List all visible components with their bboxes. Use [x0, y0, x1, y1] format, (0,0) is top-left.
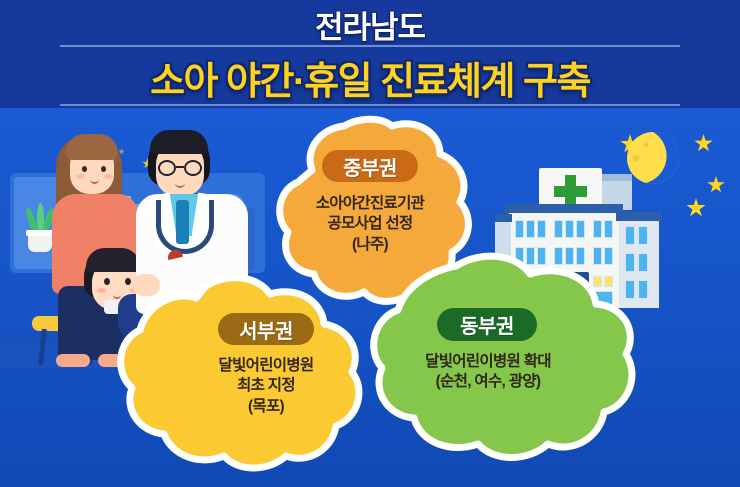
region-text-east: 달빛어린이병원 확대 (순천, 여수, 광양) [382, 352, 594, 393]
hospital-window [515, 220, 524, 238]
hospital-window [604, 220, 613, 238]
poster-header: 전라남도 소아 야간·휴일 진료체계 구축 [0, 0, 740, 108]
hospital-right-wing-cornice [616, 212, 662, 221]
hospital-window [554, 220, 563, 238]
title-line-2: 소아 야간·휴일 진료체계 구축 [0, 50, 740, 105]
region-text-line: 공모사업 선정 [270, 214, 470, 234]
infographic-poster: 전라남도 소아 야간·휴일 진료체계 구축 [0, 0, 740, 487]
title-line-1: 전라남도 [0, 2, 740, 47]
badge-west[interactable]: 서부권 [218, 313, 314, 345]
doctor-glasses-lens [158, 160, 176, 176]
region-text-line: (나주) [270, 235, 470, 255]
region-text-line: (순천, 여수, 광양) [382, 372, 594, 392]
badge-central[interactable]: 중부권 [322, 150, 418, 182]
region-text-line: 달빛어린이병원 확대 [382, 352, 594, 372]
doctor-hair-fringe [150, 130, 208, 154]
scene-plant-pot-rim [26, 230, 54, 236]
mother-cheek [76, 174, 85, 179]
region-text-line: 최초 지정 [166, 376, 366, 396]
region-text-west: 달빛어린이병원 최초 지정 (목포) [166, 356, 366, 417]
mother-hair-front [66, 134, 118, 160]
hospital-window [625, 226, 635, 245]
region-text-line: 달빛어린이병원 [166, 356, 366, 376]
header-divider-top [60, 45, 680, 47]
hospital-window [593, 220, 602, 238]
mother-cheek [104, 174, 113, 179]
badge-east[interactable]: 동부권 [437, 308, 537, 341]
star-icon [694, 134, 713, 153]
hospital-window [638, 226, 648, 245]
mother-eye [82, 166, 87, 172]
doctor-glasses-bridge [176, 166, 184, 168]
mother-shoe [56, 354, 90, 367]
doctor-glasses-lens [184, 160, 202, 176]
hospital-window [526, 220, 535, 238]
poster-body: 중부권 소아야간진료기관 공모사업 선정 (나주) 서부권 달빛어린이병원 최초… [0, 108, 740, 487]
green-cross-icon-bar [554, 186, 587, 197]
hospital-window [576, 220, 585, 238]
region-text-line: (목포) [166, 397, 366, 417]
star-icon [707, 176, 725, 194]
region-text-central: 소아야간진료기관 공모사업 선정 (나주) [270, 194, 470, 255]
mother-eye [101, 166, 106, 172]
hospital-window [565, 220, 574, 238]
hospital-window [537, 220, 546, 238]
region-text-line: 소아야간진료기관 [270, 194, 470, 214]
header-divider-bottom [60, 104, 680, 106]
hospital-main-cornice [505, 204, 623, 213]
